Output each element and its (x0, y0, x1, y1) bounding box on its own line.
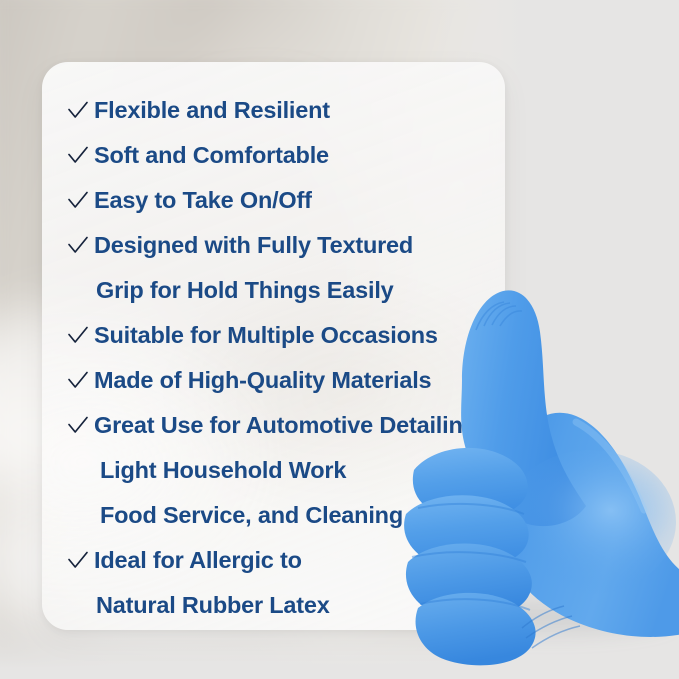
feature-item: Designed with Fully Textured (42, 223, 505, 268)
feature-item: Soft and Comfortable (42, 133, 505, 178)
feature-item: Easy to Take On/Off (42, 178, 505, 223)
feature-card: Flexible and ResilientSoft and Comfortab… (42, 62, 505, 630)
feature-item: Food Service, and Cleaning (42, 493, 505, 538)
feature-text: Food Service, and Cleaning (100, 504, 403, 528)
feature-item: Suitable for Multiple Occasions (42, 313, 505, 358)
check-mark-icon (67, 145, 89, 167)
feature-text: Made of High-Quality Materials (94, 369, 431, 393)
feature-text: Grip for Hold Things Easily (96, 279, 394, 303)
check-mark-icon (67, 415, 89, 437)
feature-item: Made of High-Quality Materials (42, 358, 505, 403)
check-mark-icon (67, 100, 89, 122)
glove-drop-shadow (432, 600, 672, 634)
feature-item: Light Household Work (42, 448, 505, 493)
feature-text: Great Use for Automotive Detailing (94, 414, 477, 438)
feature-text: Natural Rubber Latex (96, 594, 330, 618)
feature-text: Ideal for Allergic to (94, 549, 302, 573)
feature-item: Flexible and Resilient (42, 88, 505, 133)
check-mark-icon (67, 235, 89, 257)
check-mark-icon (67, 550, 89, 572)
check-mark-icon (67, 190, 89, 212)
feature-text: Soft and Comfortable (94, 144, 329, 168)
product-feature-image: Flexible and ResilientSoft and Comfortab… (0, 0, 679, 679)
feature-text: Suitable for Multiple Occasions (94, 324, 438, 348)
feature-item: Ideal for Allergic to (42, 538, 505, 583)
check-mark-icon (67, 325, 89, 347)
check-mark-icon (67, 370, 89, 392)
feature-text: Designed with Fully Textured (94, 234, 413, 258)
feature-item: Great Use for Automotive Detailing (42, 403, 505, 448)
feature-item: Grip for Hold Things Easily (42, 268, 505, 313)
feature-text: Flexible and Resilient (94, 99, 330, 123)
feature-text: Easy to Take On/Off (94, 189, 312, 213)
feature-text: Light Household Work (100, 459, 346, 483)
